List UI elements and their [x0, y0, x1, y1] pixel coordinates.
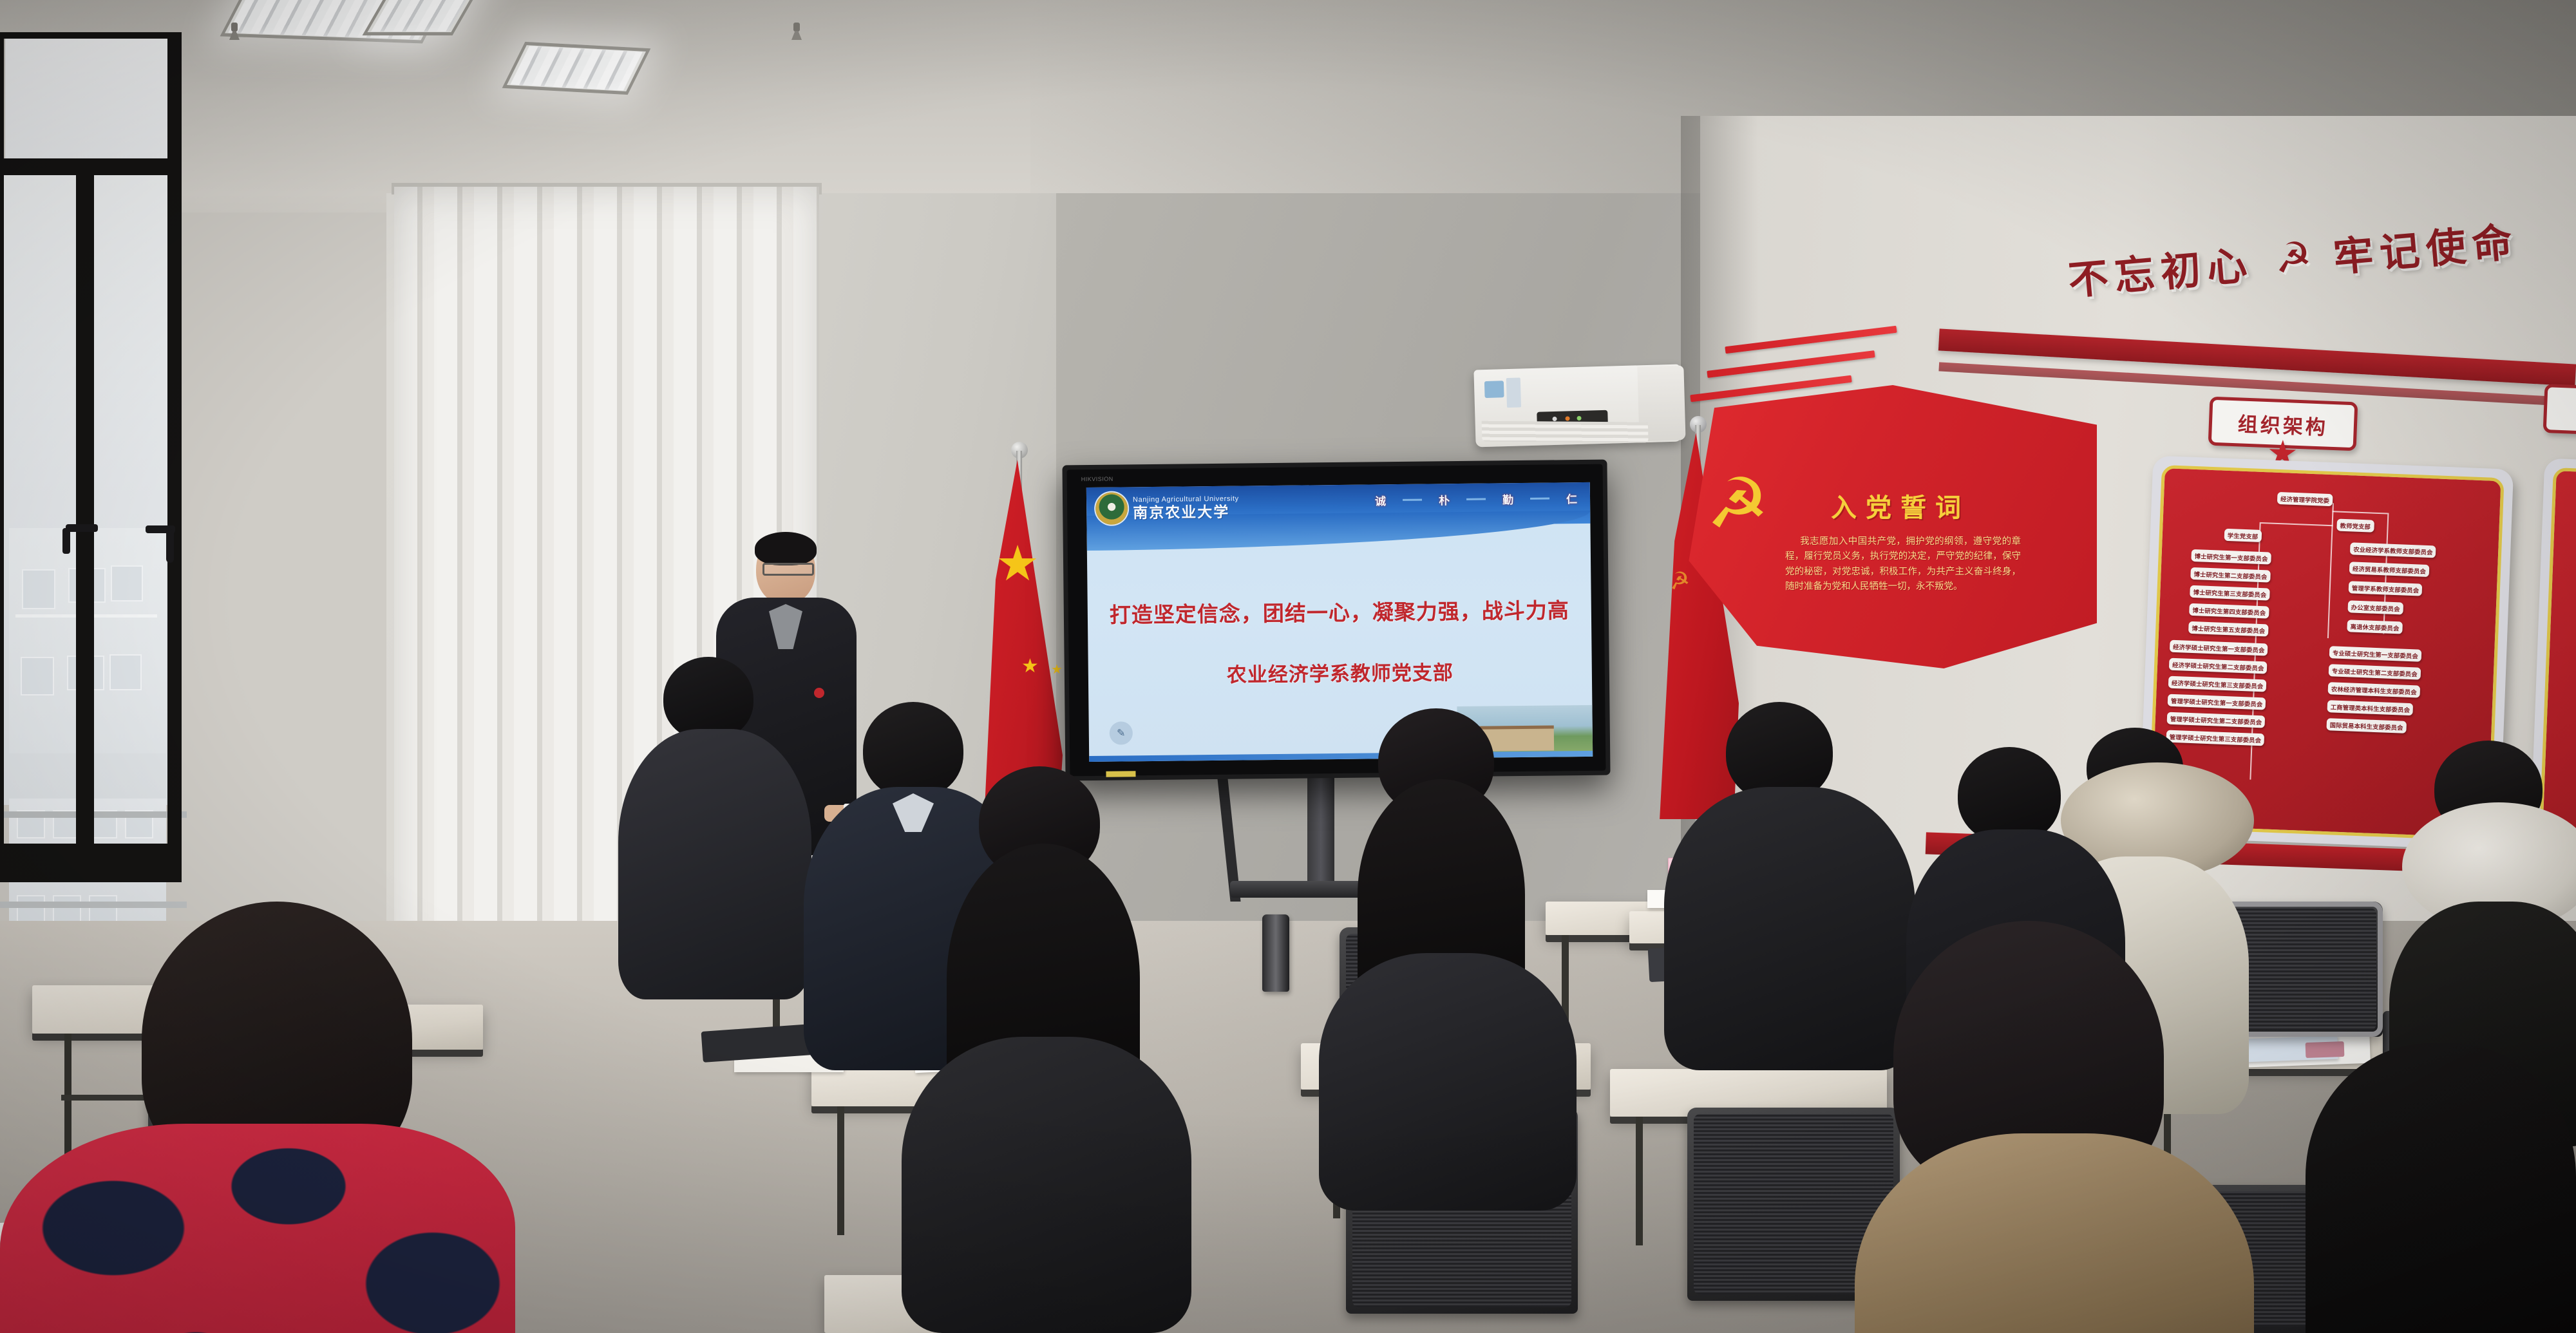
org-node-teacher: 经济贸易系教师支部委员会 [2349, 562, 2430, 577]
university-logo: Nanjing Agricultural University 南京农业大学 [1095, 491, 1239, 525]
eyeglasses [762, 563, 814, 576]
window-mullion [76, 167, 94, 869]
university-name-cn: 南京农业大学 [1133, 504, 1239, 520]
org-node-root: 经济管理学院党委 [2277, 492, 2333, 506]
org-node-teacher: 离退休支部委员会 [2347, 619, 2403, 634]
motto-char: 仁 [1566, 490, 1577, 506]
org-node-student: 专业硕士研究生第一支部委员会 [2329, 646, 2422, 661]
org-node-student: 博士研究生第四支部委员会 [2189, 603, 2269, 619]
attendee-torso [2306, 1043, 2576, 1333]
sprinkler-head [229, 23, 240, 42]
attendee-torso [902, 1037, 1191, 1333]
second-panel-tag: 党 [2543, 384, 2576, 438]
org-node-student: 博士研究生第二支部委员会 [2190, 567, 2271, 583]
desk-leg [837, 1106, 844, 1235]
university-name-en: Nanjing Agricultural University [1133, 495, 1239, 504]
ac-vent [1482, 421, 1649, 443]
sprinkler-head [791, 23, 802, 42]
university-motto: 诚 朴 勤 仁 [1375, 490, 1577, 508]
motto-char: 朴 [1439, 491, 1450, 507]
org-node-student: 博士研究生第一支部委员会 [2191, 549, 2271, 565]
fluorescent-troffer [502, 42, 651, 95]
attendee-torso [1319, 953, 1577, 1211]
slide-footer-bar [1089, 751, 1593, 762]
flag-star: ★ [1021, 657, 1039, 676]
org-node-student: 工商管理类本科生支部委员会 [2327, 700, 2413, 715]
motto-divider [1466, 498, 1486, 500]
attendee-torso [618, 729, 811, 999]
window-frame-right [167, 32, 182, 869]
org-node-student: 农林经济管理本科生支部委员会 [2328, 682, 2421, 697]
org-node-teacher: 管理学系教师支部委员会 [2349, 581, 2423, 596]
window-handle[interactable] [166, 529, 174, 563]
org-node-student: 经济学硕士研究生第二支部委员会 [2169, 658, 2268, 674]
oath-title: 入党誓词 [1794, 487, 2007, 524]
air-conditioner [1473, 364, 1681, 448]
org-node-student: 管理学硕士研究生第一支部委员会 [2168, 694, 2266, 710]
org-node-teacher-branch: 教师党支部 [2336, 518, 2374, 532]
flag-star: ★ [996, 540, 1039, 589]
motto-divider [1530, 498, 1549, 500]
party-badge-pin [814, 688, 824, 698]
window-frame-top [0, 32, 178, 39]
hammer-sickle-icon: ☭ [2273, 232, 2314, 283]
presentation-screen[interactable]: Nanjing Agricultural University 南京农业大学 诚… [1086, 482, 1593, 762]
window[interactable] [0, 6, 180, 947]
logo-seal [1095, 492, 1128, 525]
attendee-head [663, 657, 753, 741]
motto-char: 勤 [1502, 491, 1513, 507]
party-oath-banner: ☭ 入党誓词 我志愿加入中国共产党，拥护党的纲领，遵守党的章程，履行党员义务，执… [1672, 385, 2097, 668]
oath-text: 我志愿加入中国共产党，拥护党的纲领，遵守党的章程，履行党员义务，执行党的决定，严… [1785, 534, 2021, 595]
interactive-display[interactable]: HIKVISION Nanjing Agricultural Universit… [1062, 460, 1610, 781]
flag-star: ★ [1051, 663, 1063, 676]
org-node-teacher: 办公室支部委员会 [2347, 600, 2403, 614]
balcony-rail [0, 902, 187, 908]
org-node-teacher: 农业经济学系教师支部委员会 [2350, 542, 2436, 558]
thermos-bottle [1262, 914, 1289, 992]
org-node-student: 专业硕士研究生第二支部委员会 [2329, 664, 2421, 679]
org-node-student: 管理学硕士研究生第三支部委员会 [2166, 730, 2264, 746]
display-brand-label: HIKVISION [1081, 476, 1113, 483]
classroom-scene: ★ ★ ★ HIKVISION Nanjing Agricultural Uni… [0, 0, 2576, 1333]
window-frame-left [0, 32, 4, 869]
presenter-hair [755, 532, 817, 565]
desk-leg [1636, 1117, 1643, 1245]
ac-sticker [1506, 377, 1521, 408]
warning-sticker [1106, 771, 1135, 777]
org-node-student: 经济学硕士研究生第一支部委员会 [2170, 640, 2268, 656]
camouflage-jacket [0, 1124, 515, 1333]
motto-divider [1403, 499, 1422, 501]
desk-leg [64, 1034, 71, 1169]
hammer-sickle-icon: ☭ [1707, 469, 1790, 546]
org-node-student: 博士研究生第五支部委员会 [2188, 621, 2269, 637]
printed-image [2306, 1041, 2345, 1058]
window-sill [0, 844, 182, 882]
org-node-student: 管理学硕士研究生第二支部委员会 [2167, 712, 2266, 728]
org-node-student: 国际贸易本科生支部委员会 [2326, 718, 2407, 733]
window-transom-glass [5, 36, 174, 162]
motto-char: 诚 [1375, 492, 1386, 508]
slide-headline: 打造坚定信念，团结一心，凝聚力强，战斗力高 [1088, 593, 1591, 629]
display-stand-column [1307, 773, 1334, 889]
org-node-student: 经济学硕士研究生第三支部委员会 [2168, 676, 2267, 692]
window-handle[interactable] [62, 528, 70, 554]
attendee-torso [1664, 787, 1915, 1070]
attendee-head [863, 702, 963, 799]
slide-subheadline: 农业经济学系教师党支部 [1088, 655, 1592, 689]
org-node-student-branch: 学生党支部 [2224, 529, 2262, 542]
ac-sticker [1484, 381, 1504, 398]
pen-icon[interactable]: ✎ [1110, 721, 1133, 744]
org-node-student: 博士研究生第三支部委员会 [2190, 585, 2270, 601]
window-handle[interactable] [66, 524, 98, 532]
